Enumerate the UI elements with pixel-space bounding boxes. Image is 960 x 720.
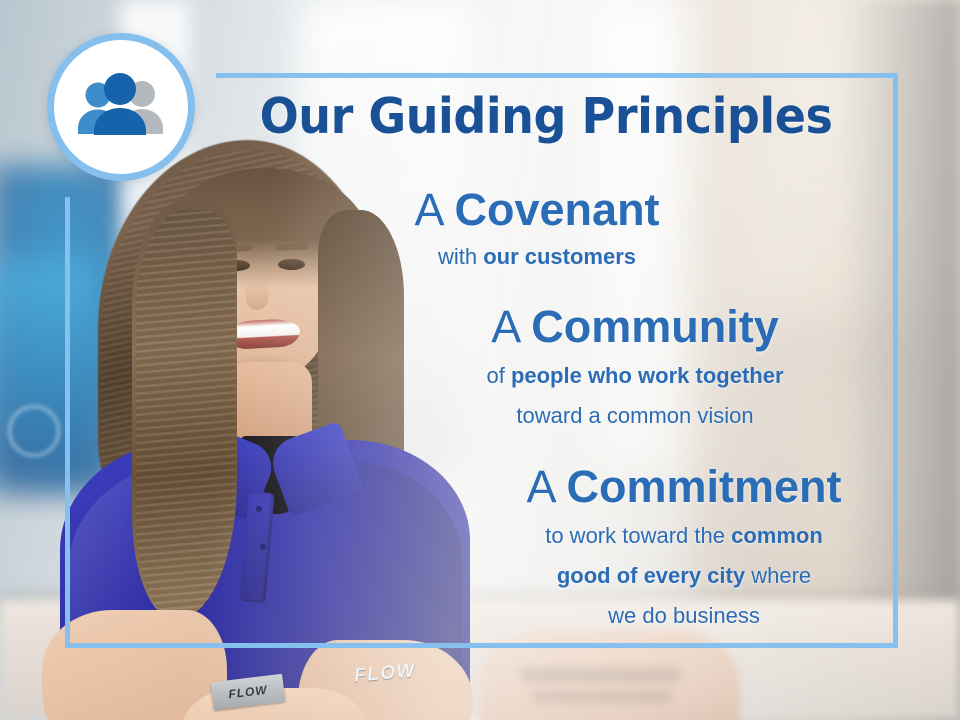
- commitment-sub1-strong: common: [731, 523, 823, 548]
- principle-community: A Community of people who work together …: [385, 303, 885, 431]
- principle-covenant-article: A: [414, 184, 442, 235]
- commitment-sub2-tail: where: [745, 563, 811, 588]
- principle-community-subline-1: of people who work together: [385, 361, 885, 391]
- principle-covenant-heading: A Covenant: [287, 186, 787, 234]
- community-sub1-lead: of: [486, 363, 510, 388]
- principle-covenant-keyword: Covenant: [455, 184, 660, 235]
- principle-commitment-subline-2: good of every city where: [454, 561, 914, 591]
- principle-commitment-subline-3: we do business: [454, 601, 914, 631]
- covenant-sub1-strong: our customers: [483, 244, 636, 269]
- principle-community-article: A: [491, 301, 519, 352]
- principle-covenant-subline-1: with our customers: [287, 242, 787, 272]
- page-title: Our Guiding Principles: [236, 92, 856, 142]
- commitment-sub3-lead: we do business: [608, 603, 760, 628]
- commitment-sub2-strong: good of every city: [557, 563, 745, 588]
- principle-commitment-heading: A Commitment: [454, 463, 914, 511]
- principle-commitment-subline-1: to work toward the common: [454, 521, 914, 551]
- covenant-sub1-lead: with: [438, 244, 483, 269]
- principle-commitment-keyword: Commitment: [567, 461, 842, 512]
- community-sub2-lead: toward a common vision: [516, 403, 753, 428]
- principle-community-subline-2: toward a common vision: [385, 401, 885, 431]
- principle-commitment: A Commitment to work toward the common g…: [454, 463, 914, 632]
- principle-community-keyword: Community: [531, 301, 779, 352]
- principle-community-heading: A Community: [385, 303, 885, 351]
- principle-commitment-article: A: [526, 461, 554, 512]
- text-content: Our Guiding Principles A Covenant with o…: [0, 0, 960, 720]
- banner-graphic: FLOW FLOW: [0, 0, 960, 720]
- community-sub1-strong: people who work together: [511, 363, 784, 388]
- commitment-sub1-lead: to work toward the: [545, 523, 731, 548]
- principle-covenant: A Covenant with our customers: [287, 186, 787, 272]
